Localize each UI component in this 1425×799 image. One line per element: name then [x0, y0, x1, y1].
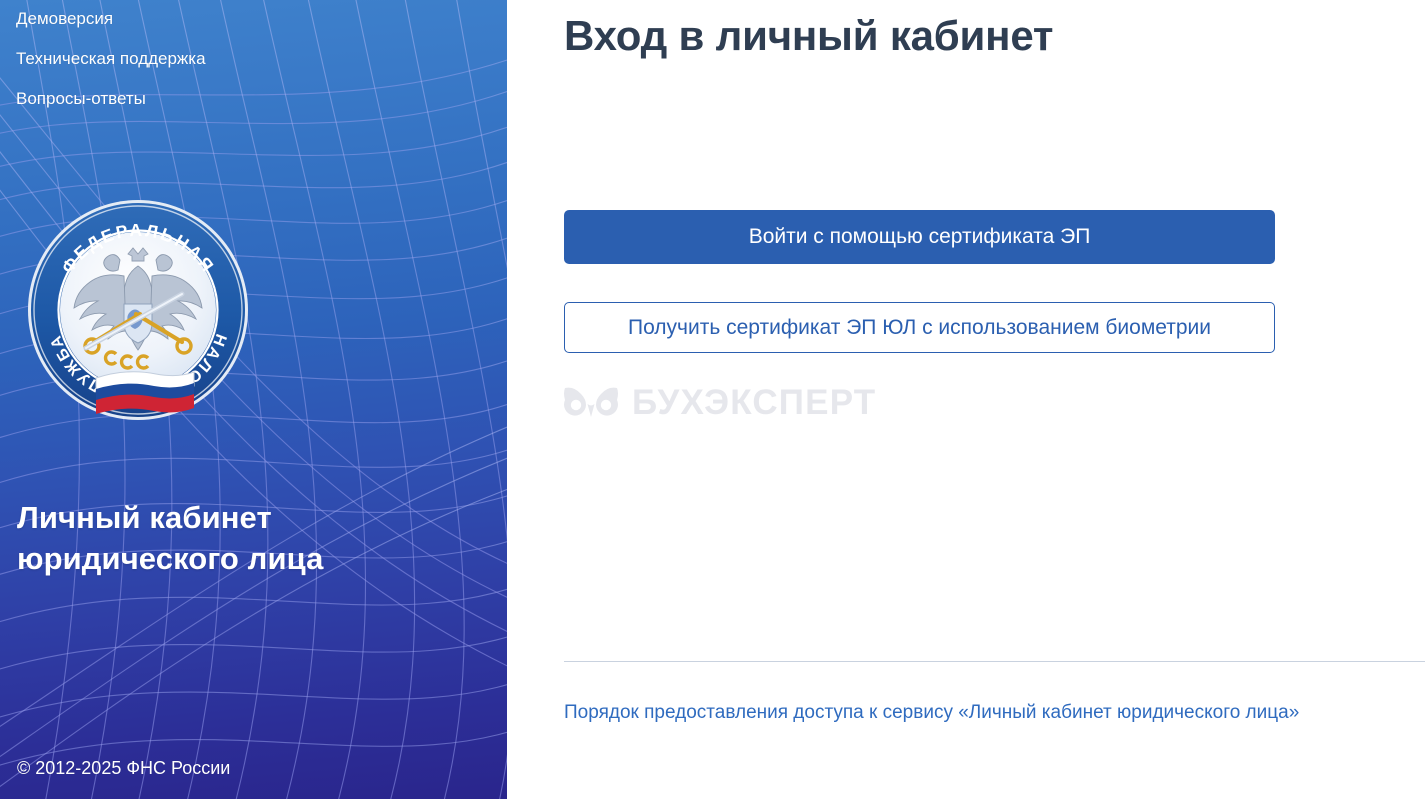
sidebar-link-support[interactable]: Техническая поддержка [16, 48, 206, 69]
watermark: БУХЭКСПЕРТ [563, 383, 876, 423]
sidebar-title-line1: Личный кабинет [17, 497, 437, 538]
login-with-certificate-button[interactable]: Войти с помощью сертификата ЭП [564, 210, 1275, 264]
sidebar-content: Демоверсия Техническая поддержка Вопросы… [0, 0, 507, 799]
sidebar-title-line2: юридического лица [17, 538, 437, 579]
footer-divider [564, 661, 1425, 662]
sidebar-link-faq[interactable]: Вопросы-ответы [16, 88, 206, 109]
sidebar-nav: Демоверсия Техническая поддержка Вопросы… [16, 8, 206, 109]
watermark-text: БУХЭКСПЕРТ [632, 383, 876, 423]
fns-emblem-icon: ФЕДЕРАЛЬНАЯ НАЛОГОВАЯ СЛУЖБА [24, 196, 252, 424]
owl-face-icon [563, 385, 619, 421]
sidebar-title: Личный кабинет юридического лица [17, 497, 437, 579]
access-procedure-link[interactable]: Порядок предоставления доступа к сервису… [564, 700, 1299, 726]
sidebar: Демоверсия Техническая поддержка Вопросы… [0, 0, 507, 799]
sidebar-link-demo[interactable]: Демоверсия [16, 8, 206, 29]
page-title: Вход в личный кабинет [564, 8, 1053, 64]
get-certificate-biometry-button[interactable]: Получить сертификат ЭП ЮЛ с использовани… [564, 302, 1275, 353]
main-content: Вход в личный кабинет Войти с помощью се… [507, 0, 1425, 799]
copyright-text: © 2012-2025 ФНС России [17, 757, 230, 779]
login-page: Демоверсия Техническая поддержка Вопросы… [0, 0, 1425, 799]
